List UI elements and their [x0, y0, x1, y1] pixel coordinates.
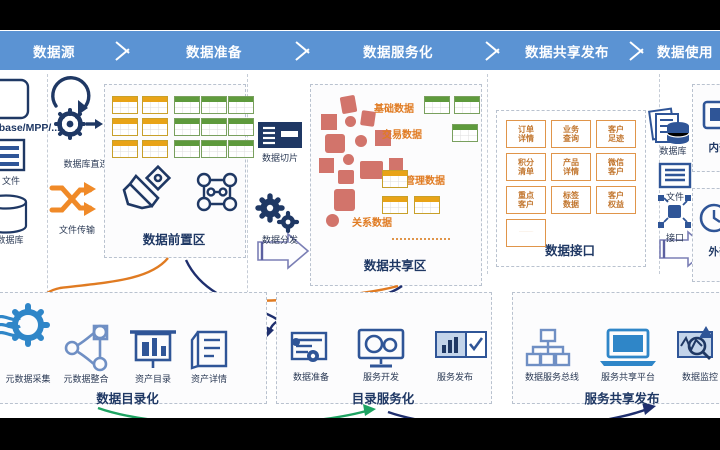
letterbox-top: [0, 0, 720, 30]
cataloging-feature-label-1: 元数据整合: [55, 372, 117, 385]
consumer-external: [692, 188, 720, 282]
interface-card[interactable]: 微信客户: [596, 153, 636, 181]
data-slice-icon: [258, 122, 302, 148]
stage-data-preparation[interactable]: 数据准备: [140, 31, 288, 70]
interface-card[interactable]: 标签数据: [551, 186, 591, 214]
cataloging-feature-label-0: 元数据采集: [0, 372, 59, 385]
stage-data-source[interactable]: 数据源: [0, 31, 108, 70]
stage-data-usage[interactable]: 数据使用: [650, 31, 720, 70]
shared-label-0: 基础数据: [374, 100, 414, 115]
interface-card[interactable]: 客户权益: [596, 186, 636, 214]
source-item-label-1: 文件: [0, 174, 34, 187]
chevron-separator-2: [292, 31, 318, 70]
shared-label-2: 管理数据: [405, 172, 445, 187]
slice-item-label-1: 数据分发: [252, 233, 308, 246]
zone-data-cataloging-title: 数据目录化: [0, 388, 265, 407]
interface-card[interactable]: 产品详情: [551, 153, 591, 181]
interface-card[interactable]: 积分清单: [506, 153, 546, 181]
file-lines-icon-2: [660, 164, 690, 187]
zone-service-sharing-title: 服务共享发布: [512, 388, 720, 407]
gear-arrow-icon: [53, 78, 103, 138]
shared-label-3: 关系数据: [352, 214, 392, 229]
column-separator-3: [487, 74, 488, 274]
interface-card[interactable]: 客户足迹: [596, 120, 636, 148]
letterbox-bottom: [0, 418, 720, 450]
source-item-label-0: ...base/MPP/...: [0, 122, 50, 134]
zone-data-shared-title: 数据共享区: [310, 255, 480, 274]
sharing-feature-label-0: 数据服务总线: [516, 370, 588, 383]
chevron-separator-4: [626, 31, 652, 70]
source-item-label-2: 数据库: [0, 233, 36, 246]
sharing-feature-label-1: 服务共享平台: [592, 370, 664, 383]
interface-card[interactable]: 业务查询: [551, 120, 591, 148]
interface-card[interactable]: 订单详情: [506, 120, 546, 148]
chevron-separator-3: [482, 31, 508, 70]
gears-icon: [258, 196, 297, 231]
shuffle-arrows-icon: [52, 188, 90, 210]
servicing-feature-label-0: 数据准备: [280, 370, 342, 383]
slice-item-label-0: 数据切片: [252, 151, 308, 164]
consumer-external-label: 外部: [694, 244, 720, 259]
docs-database-icon: [649, 109, 689, 144]
output-item-label-0: 数据库: [650, 144, 696, 157]
zone-data-prep-title: 数据前置区: [104, 229, 244, 248]
interface-card-placeholder[interactable]: ··············: [506, 219, 546, 247]
chevron-separator-1: [112, 31, 138, 70]
interface-card[interactable]: 重点客户: [506, 186, 546, 214]
zone-catalog-servicing-title: 目录服务化: [276, 388, 490, 407]
consumer-internal: [692, 84, 720, 172]
stage-header-bar: 数据源 数据准备 数据服务化 数据共享发布 数据使用: [0, 31, 720, 70]
sharing-feature-label-2: 数据监控: [664, 370, 720, 383]
consumer-internal-label: 内部: [694, 140, 720, 155]
screenshot-root: 数据源 数据准备 数据服务化 数据共享发布 数据使用: [0, 0, 720, 450]
servicing-feature-label-1: 服务开发: [350, 370, 412, 383]
shared-dotted-divider: [392, 238, 450, 240]
stage-data-servicing[interactable]: 数据服务化: [318, 31, 478, 70]
column-separator-4: [659, 74, 660, 274]
cataloging-feature-label-2: 资产目录: [122, 372, 184, 385]
servicing-feature-label-2: 服务发布: [424, 370, 486, 383]
shared-label-1: 交易数据: [382, 126, 422, 141]
stage-data-sharing-publish[interactable]: 数据共享发布: [506, 31, 628, 70]
cataloging-feature-label-3: 资产详情: [178, 372, 240, 385]
diagram-canvas: 数据源 数据准备 数据服务化 数据共享发布 数据使用: [0, 30, 720, 418]
ingest-item-label-1: 文件传输: [48, 223, 106, 236]
